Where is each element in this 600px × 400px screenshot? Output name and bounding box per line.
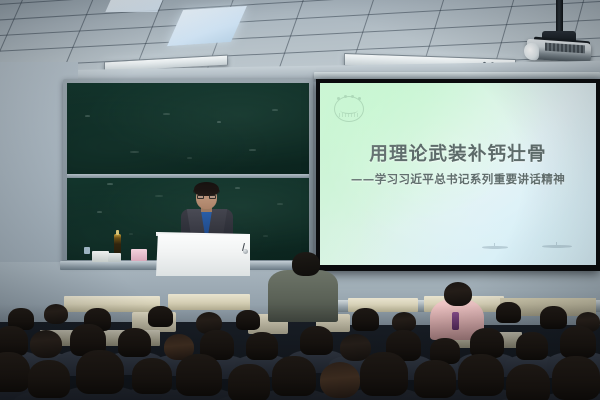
water-bottle <box>452 312 459 330</box>
person-head <box>560 326 596 358</box>
person-head <box>0 352 30 392</box>
person-head <box>76 350 124 394</box>
person-head <box>458 354 504 396</box>
person-head <box>272 356 316 396</box>
person-head <box>300 326 333 355</box>
slide-title: 用理论武装补钙壮骨 <box>320 140 596 166</box>
projector-lens-icon <box>524 42 539 60</box>
person-head <box>506 364 550 400</box>
presenter-hair <box>194 182 219 196</box>
person-head <box>132 358 172 394</box>
person-head <box>176 354 222 396</box>
blackboard-panel-top <box>67 83 309 175</box>
person-head <box>228 364 270 400</box>
person-head <box>320 362 360 398</box>
lecture-hall-photo: 用理论武装补钙壮骨 ——学习习近平总书记系列重要讲话精神 <box>0 0 600 400</box>
projection-screen-frame: 用理论武装补钙壮骨 ——学习习近平总书记系列重要讲话精神 <box>316 79 600 271</box>
desk <box>64 296 160 312</box>
seated-audience <box>0 268 600 400</box>
blackboard-divider-rail <box>67 174 309 178</box>
person-head <box>28 360 70 398</box>
person-head <box>540 306 567 329</box>
screen-valance <box>314 72 600 79</box>
paper-cup <box>84 247 90 254</box>
projection-screen: 用理论武装补钙壮骨 ——学习习近平总书记系列重要讲话精神 <box>320 83 596 265</box>
white-box <box>92 251 109 262</box>
white-box-small <box>108 253 121 262</box>
microphone-icon <box>239 243 250 254</box>
eyeglasses-icon <box>197 195 216 199</box>
person-head <box>360 352 408 396</box>
person-head <box>44 304 68 324</box>
person-head <box>352 308 379 331</box>
person-head <box>30 330 62 358</box>
person-head <box>414 360 456 398</box>
person-head <box>148 306 173 327</box>
person-head <box>236 310 260 330</box>
slide-subtitle: ——学习习近平总书记系列重要讲话精神 <box>320 171 596 187</box>
person-head <box>444 282 472 306</box>
person-head <box>246 332 278 360</box>
slide-footer-boats-icon <box>480 239 590 251</box>
person-head <box>118 328 151 357</box>
party-emblem-watermark-icon <box>332 92 366 124</box>
person-head <box>392 312 416 332</box>
person-in-olive-jacket <box>268 270 338 322</box>
person-head <box>552 356 600 400</box>
person-head <box>496 302 521 323</box>
desk <box>168 294 250 310</box>
skylight-panel-secondary <box>105 0 162 12</box>
pink-box <box>131 249 147 261</box>
person-head <box>516 332 548 360</box>
person-head <box>292 252 320 276</box>
